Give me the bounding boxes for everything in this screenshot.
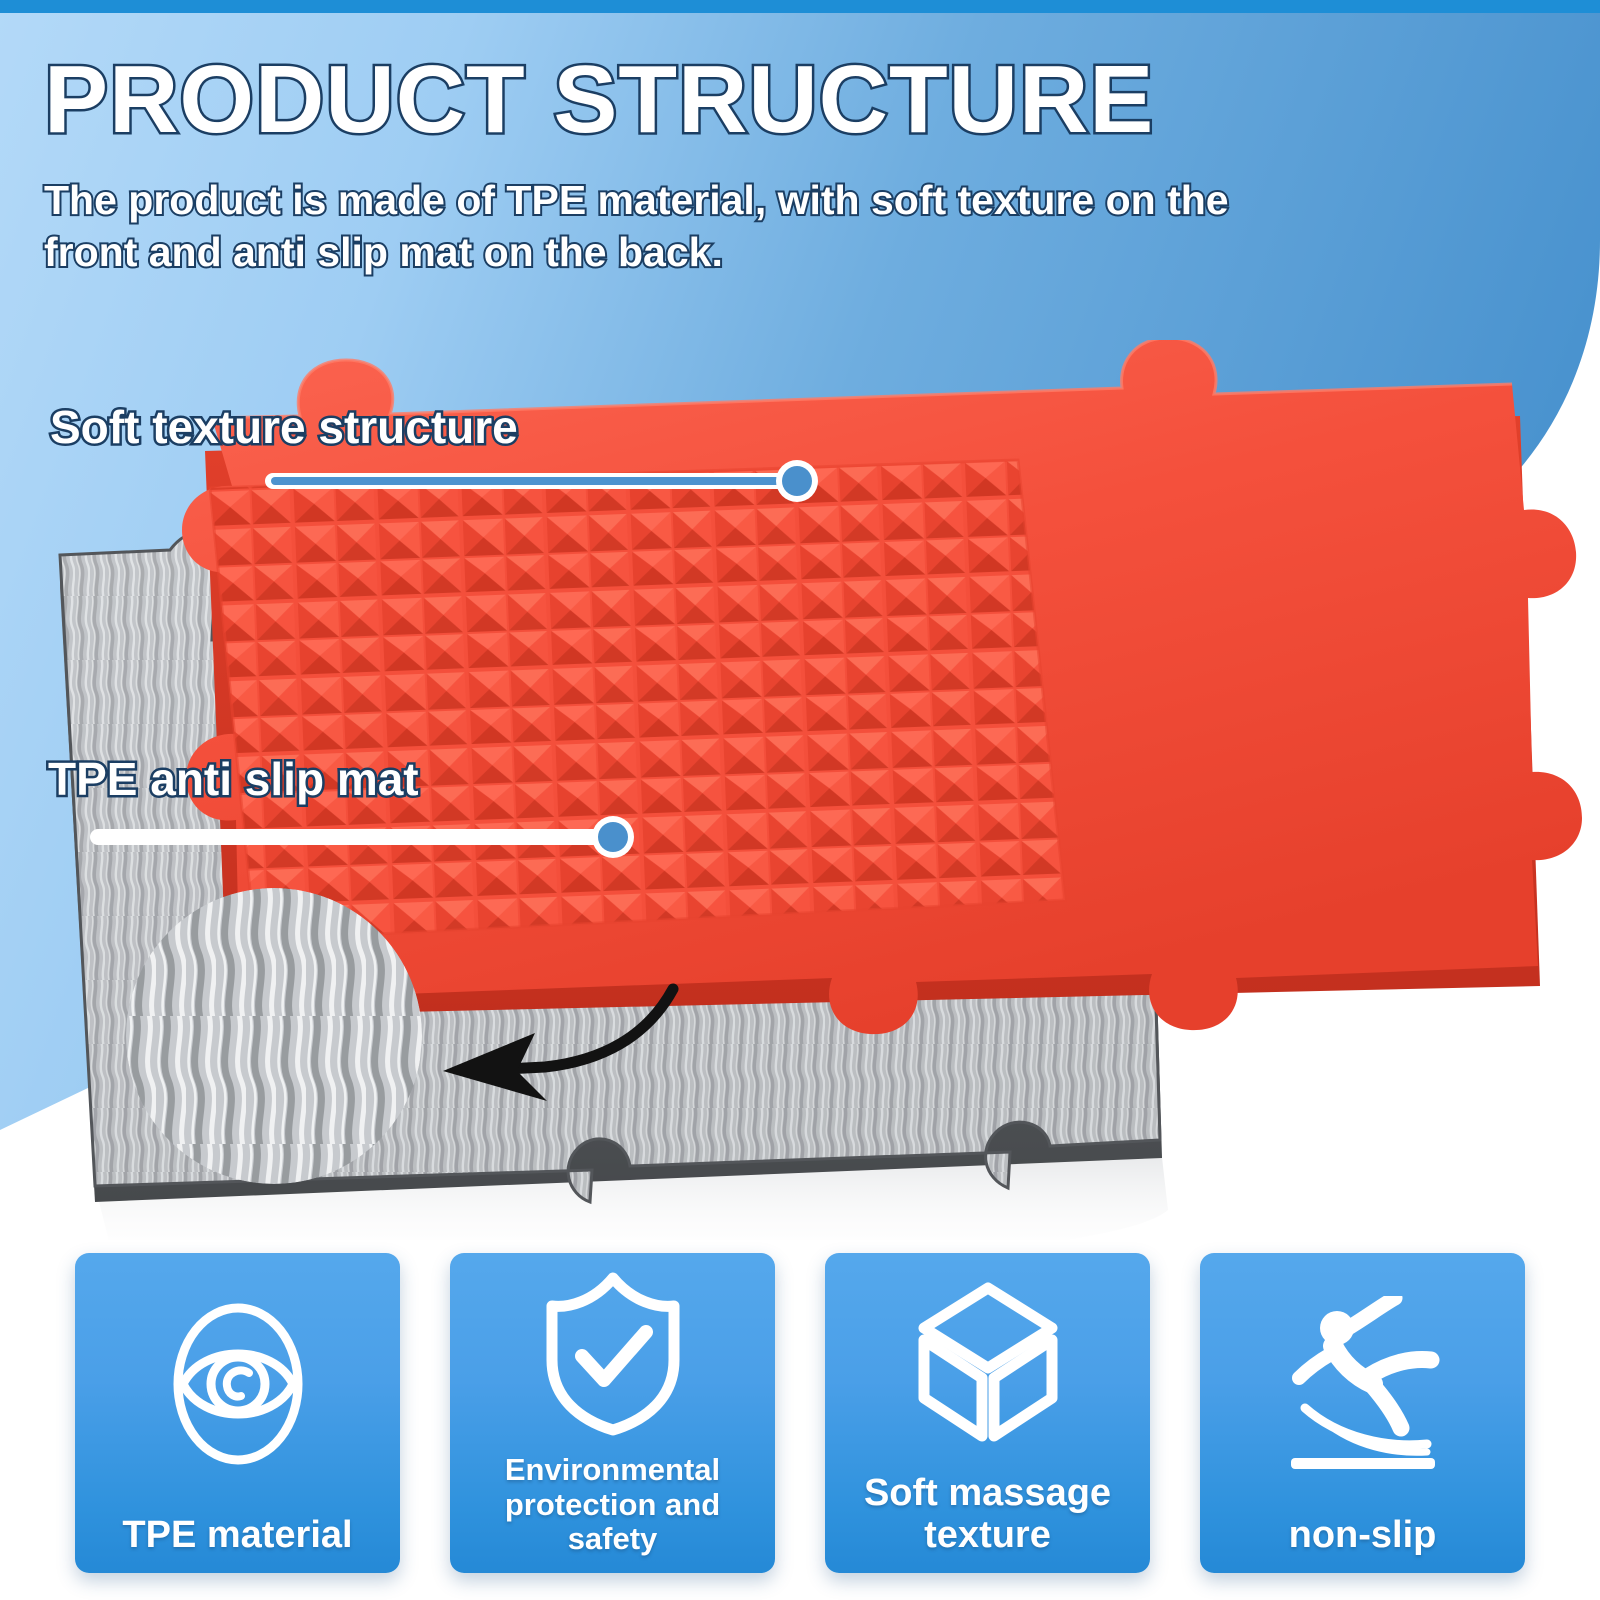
callout-endpoint-dot bbox=[782, 466, 812, 496]
eye-icon bbox=[75, 1253, 400, 1514]
zoom-pointer-arrow bbox=[425, 975, 685, 1105]
page-title: PRODUCT STRUCTURE bbox=[44, 52, 1444, 148]
page-subtitle: The product is made of TPE material, wit… bbox=[44, 174, 1234, 279]
top-accent-strip bbox=[0, 0, 1600, 13]
callout-soft-texture-leader bbox=[265, 458, 845, 504]
feature-card-label: TPE material bbox=[112, 1514, 362, 1557]
callout-anti-slip-leader bbox=[38, 814, 658, 860]
feature-card-soft-massage-texture[interactable]: Soft massage texture bbox=[825, 1253, 1150, 1573]
callout-soft-texture: Soft texture structure bbox=[50, 400, 518, 454]
callout-soft-texture-label: Soft texture structure bbox=[50, 400, 518, 454]
callout-anti-slip: TPE anti slip mat bbox=[48, 752, 419, 806]
feature-card-label: Soft massage texture bbox=[825, 1472, 1150, 1557]
feature-card-label: Environmental protection and safety bbox=[450, 1453, 775, 1557]
feature-card-tpe-material[interactable]: TPE material bbox=[75, 1253, 400, 1573]
texture-zoom-circle bbox=[126, 888, 422, 1184]
header-block: PRODUCT STRUCTURE The product is made of… bbox=[44, 52, 1444, 279]
feature-cards: TPE material Environmental protection an… bbox=[0, 1253, 1600, 1573]
slip-person-icon bbox=[1200, 1253, 1525, 1514]
cube-3d-icon bbox=[825, 1253, 1150, 1472]
feature-card-non-slip[interactable]: non-slip bbox=[1200, 1253, 1525, 1573]
feature-card-environmental-safety[interactable]: Environmental protection and safety bbox=[450, 1253, 775, 1573]
callout-endpoint-dot bbox=[598, 822, 628, 852]
callout-anti-slip-label: TPE anti slip mat bbox=[48, 752, 419, 806]
feature-card-label: non-slip bbox=[1279, 1514, 1447, 1557]
shield-check-icon bbox=[450, 1253, 775, 1453]
